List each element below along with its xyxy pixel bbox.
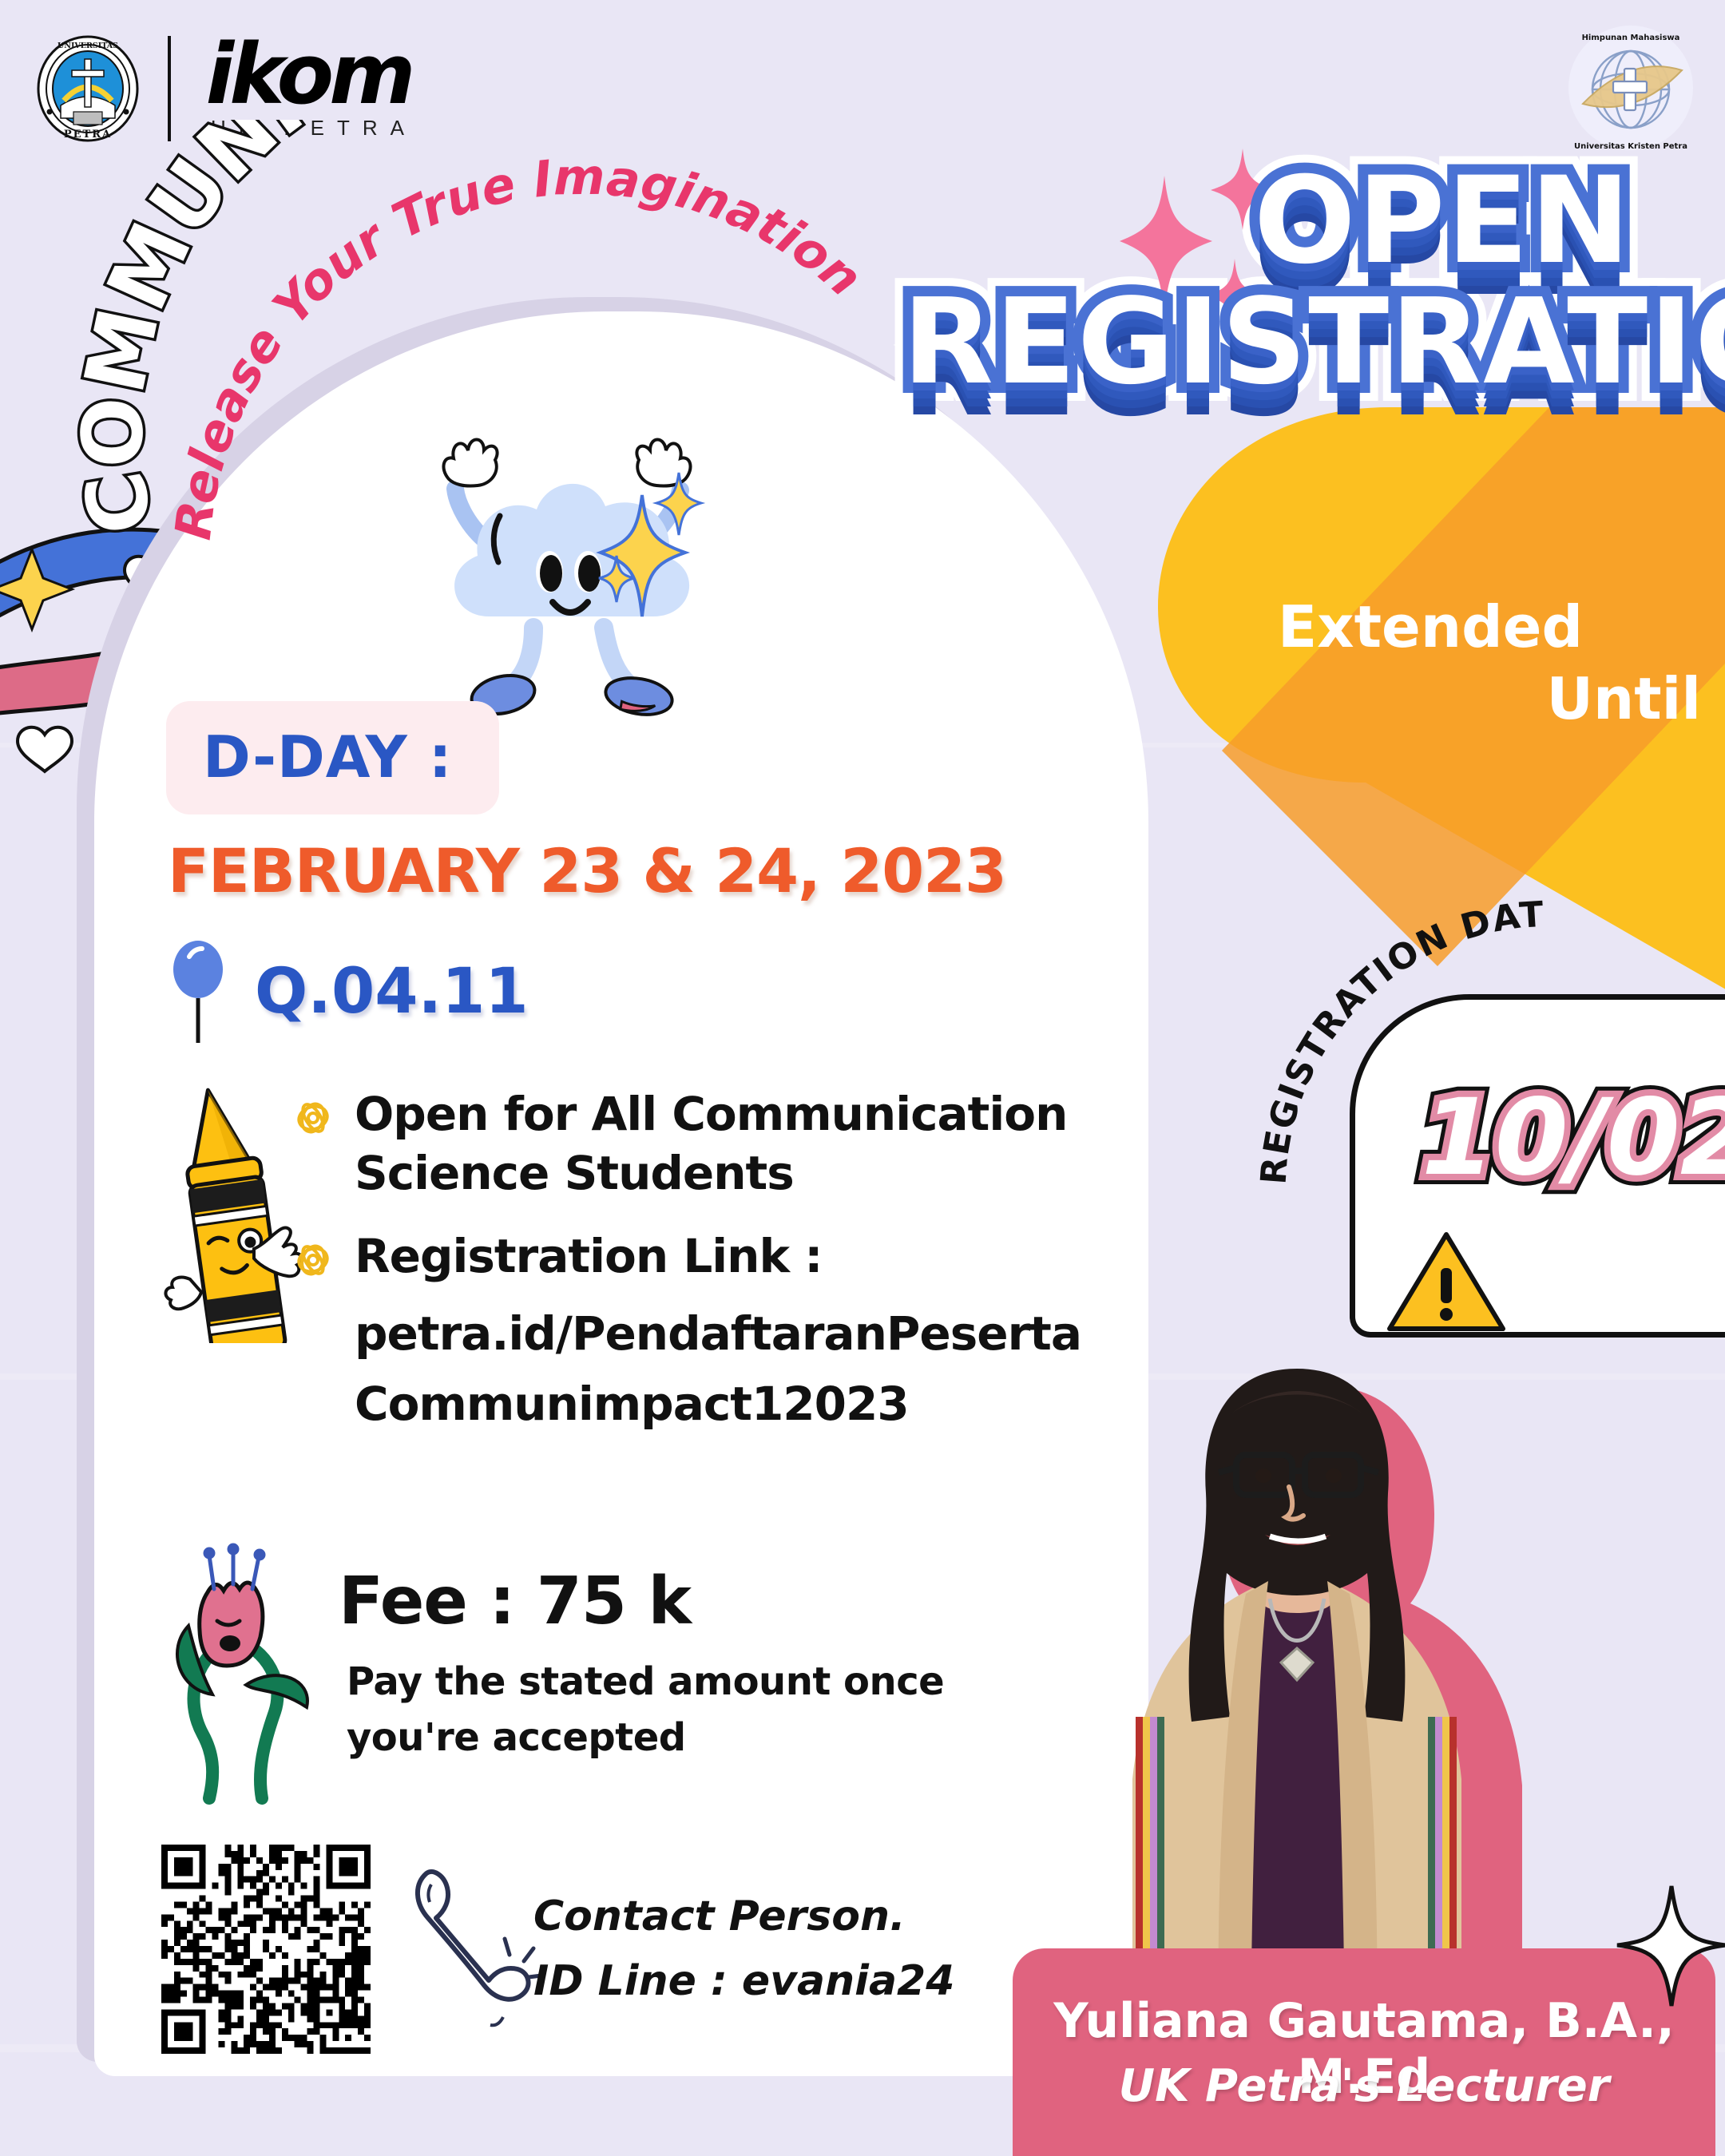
location-text: Q.04.11 <box>255 956 529 1028</box>
headline-line-registration: REGISTRATION REGISTRATION <box>902 273 1717 410</box>
registration-link-line1: petra.id/PendaftaranPeserta <box>355 1304 1081 1363</box>
contact-line-id: ID Line : evania24 <box>533 1949 954 2014</box>
sparkle-white-icon <box>1612 1881 1725 2009</box>
headline-registration-fill: REGISTRATION <box>902 273 1725 410</box>
warning-triangle-icon <box>1386 1230 1506 1334</box>
yellow-scribble-bullet-icon <box>292 1239 334 1281</box>
fee-label: Fee : 75 k <box>339 1563 691 1639</box>
headline-open-fill: OPEN <box>1254 152 1632 291</box>
hima-ilmu-komunikasi-logo-icon: Himpunan Mahasiswa Universitas Kristen P… <box>1559 16 1703 160</box>
bullet-1-line2: Science Students <box>355 1143 1067 1203</box>
svg-text:10/02: 10/02 <box>1422 1076 1725 1199</box>
location-row: Q.04.11 <box>172 939 529 1044</box>
speaker-name-card: Yuliana Gautama, B.A., M.Ed UK Petra's L… <box>1013 1948 1715 2156</box>
svg-text:Himpunan Mahasiswa: Himpunan Mahasiswa <box>1582 34 1680 42</box>
extended-line1: Extended <box>1278 591 1709 663</box>
svg-text:UNIVERSITAS: UNIVERSITAS <box>57 42 118 50</box>
bullet-1-line1: Open for All Communication <box>355 1084 1067 1143</box>
qr-code <box>161 1845 371 2054</box>
dday-label: D-DAY : <box>203 723 453 791</box>
flower-character-mascot-icon <box>157 1543 332 1806</box>
fee-note-line1: Pay the stated amount once <box>347 1655 944 1710</box>
dday-badge: D-DAY : <box>166 701 499 814</box>
contact-person-label: Contact Person. <box>533 1885 954 1949</box>
bullet-item: Registration Link : petra.id/Pendaftaran… <box>292 1227 1091 1433</box>
poster-canvas: UNIVERSITAS PETRA ikom UK PETRA Himpunan… <box>0 0 1725 2156</box>
bullet-item: Open for All Communication Science Stude… <box>292 1084 1091 1203</box>
cloud-character-mascot-icon <box>399 399 735 719</box>
contact-block: Contact Person. ID Line : evania24 <box>533 1885 954 2013</box>
registration-link-line2: Communimpact12023 <box>355 1374 1081 1433</box>
detail-bullets: Open for All Communication Science Stude… <box>292 1084 1091 1446</box>
ikom-wordmark: ikom <box>206 37 411 113</box>
yellow-scribble-bullet-icon <box>292 1097 334 1139</box>
extended-until-text: Extended Until <box>1278 591 1709 735</box>
phone-handset-icon <box>383 1861 543 2044</box>
lecturer-photo <box>1030 1342 1557 2044</box>
registration-date-value: 10/02 10/02 <box>1414 1062 1725 1206</box>
bullet-2-line1: Registration Link : <box>355 1227 1081 1286</box>
fee-note: Pay the stated amount once you're accept… <box>347 1655 944 1766</box>
event-date-line: FEBRUARY 23 & 24, 2023 <box>168 835 1006 906</box>
map-pin-balloon-icon <box>172 939 224 1044</box>
headline-line-open: OPEN OPEN <box>1254 152 1717 291</box>
extended-line2: Until <box>1278 663 1709 735</box>
fee-note-line2: you're accepted <box>347 1710 944 1766</box>
svg-text:Universitas Kristen Petra: Universitas Kristen Petra <box>1574 142 1687 151</box>
speaker-role: UK Petra's Lecturer <box>1013 2060 1715 2112</box>
